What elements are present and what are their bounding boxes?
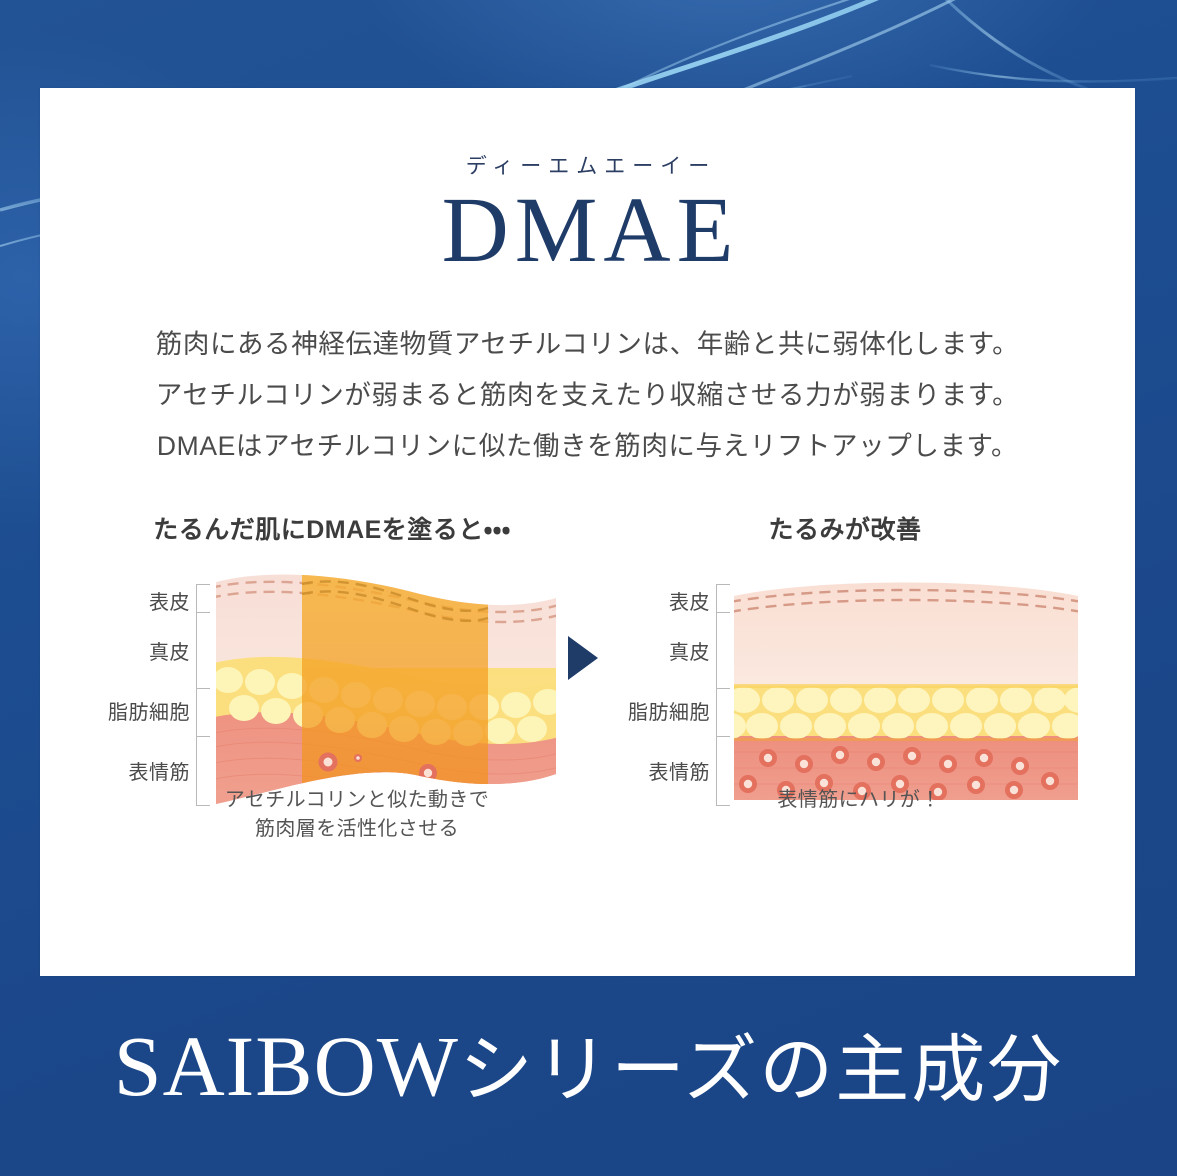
bottom-banner: SAIBOWシリーズの主成分: [0, 1010, 1177, 1117]
label-dermis: 真皮: [149, 636, 190, 665]
layer-bracket-after: [716, 584, 731, 806]
lede-paragraph: 筋肉にある神経伝達物質アセチルコリンは、年齢と共に弱体化します。 アセチルコリン…: [138, 319, 1038, 472]
panel-after-caption: 表情筋にハリが！: [612, 786, 1094, 815]
banner-brand: SAIBOW: [114, 1018, 459, 1114]
title-block: ディーエムエーイー DMAE: [40, 150, 1135, 275]
label-epidermis: 表皮: [669, 586, 710, 615]
lede-line-3: DMAEはアセチルコリンに似た働きを筋肉に与えリフトアップします。: [138, 421, 1038, 472]
panel-before-caption: アセチルコリンと似た動きで 筋肉層を活性化させる: [92, 786, 592, 844]
banner-subtitle: シリーズの主成分: [459, 1028, 1063, 1111]
panel-before: たるんだ肌にDMAEを塗ると・・・ 表皮 真皮 脂肪細胞 表情筋: [92, 510, 562, 816]
page-title: DMAE: [40, 186, 1135, 275]
title-ruby: ディーエムエーイー: [40, 150, 1135, 180]
caption-line-1: アセチルコリンと似た動きで: [122, 786, 592, 815]
panel-after-heading: たるみが改善: [612, 510, 1082, 544]
skin-diagram-after: 表皮 真皮 脂肪細胞 表情筋: [612, 568, 1082, 816]
lede-line-2: アセチルコリンが弱まると筋肉を支えたり収縮させる力が弱まります。: [138, 370, 1038, 421]
layer-bracket-before: [196, 584, 211, 806]
skin-cross-section-before-icon: [210, 568, 562, 816]
skin-diagram-before: 表皮 真皮 脂肪細胞 表情筋: [92, 568, 562, 816]
label-fat-cells: 脂肪細胞: [108, 696, 190, 725]
content-card: ディーエムエーイー DMAE 筋肉にある神経伝達物質アセチルコリンは、年齢と共に…: [40, 88, 1135, 976]
label-dermis: 真皮: [669, 636, 710, 665]
layer-labels-after: 表皮 真皮 脂肪細胞 表情筋: [612, 568, 720, 816]
skin-cross-section-after-icon: [730, 568, 1082, 816]
panel-after: たるみが改善 表皮 真皮 脂肪細胞 表情筋: [612, 510, 1082, 816]
comparison-panels: たるんだ肌にDMAEを塗ると・・・ 表皮 真皮 脂肪細胞 表情筋: [40, 510, 1135, 890]
panel-before-heading: たるんだ肌にDMAEを塗ると・・・: [92, 510, 562, 544]
lede-line-1: 筋肉にある神経伝達物質アセチルコリンは、年齢と共に弱体化します。: [138, 319, 1038, 370]
layer-labels-before: 表皮 真皮 脂肪細胞 表情筋: [92, 568, 200, 816]
caption-line-2: 筋肉層を活性化させる: [122, 815, 592, 844]
label-facial-muscle: 表情筋: [129, 756, 191, 785]
label-facial-muscle: 表情筋: [649, 756, 711, 785]
label-epidermis: 表皮: [149, 586, 190, 615]
caption-line-1: 表情筋にハリが！: [624, 786, 1094, 815]
promo-page: ディーエムエーイー DMAE 筋肉にある神経伝達物質アセチルコリンは、年齢と共に…: [0, 0, 1177, 1176]
arrow-right-icon: [568, 636, 598, 680]
label-fat-cells: 脂肪細胞: [628, 696, 710, 725]
